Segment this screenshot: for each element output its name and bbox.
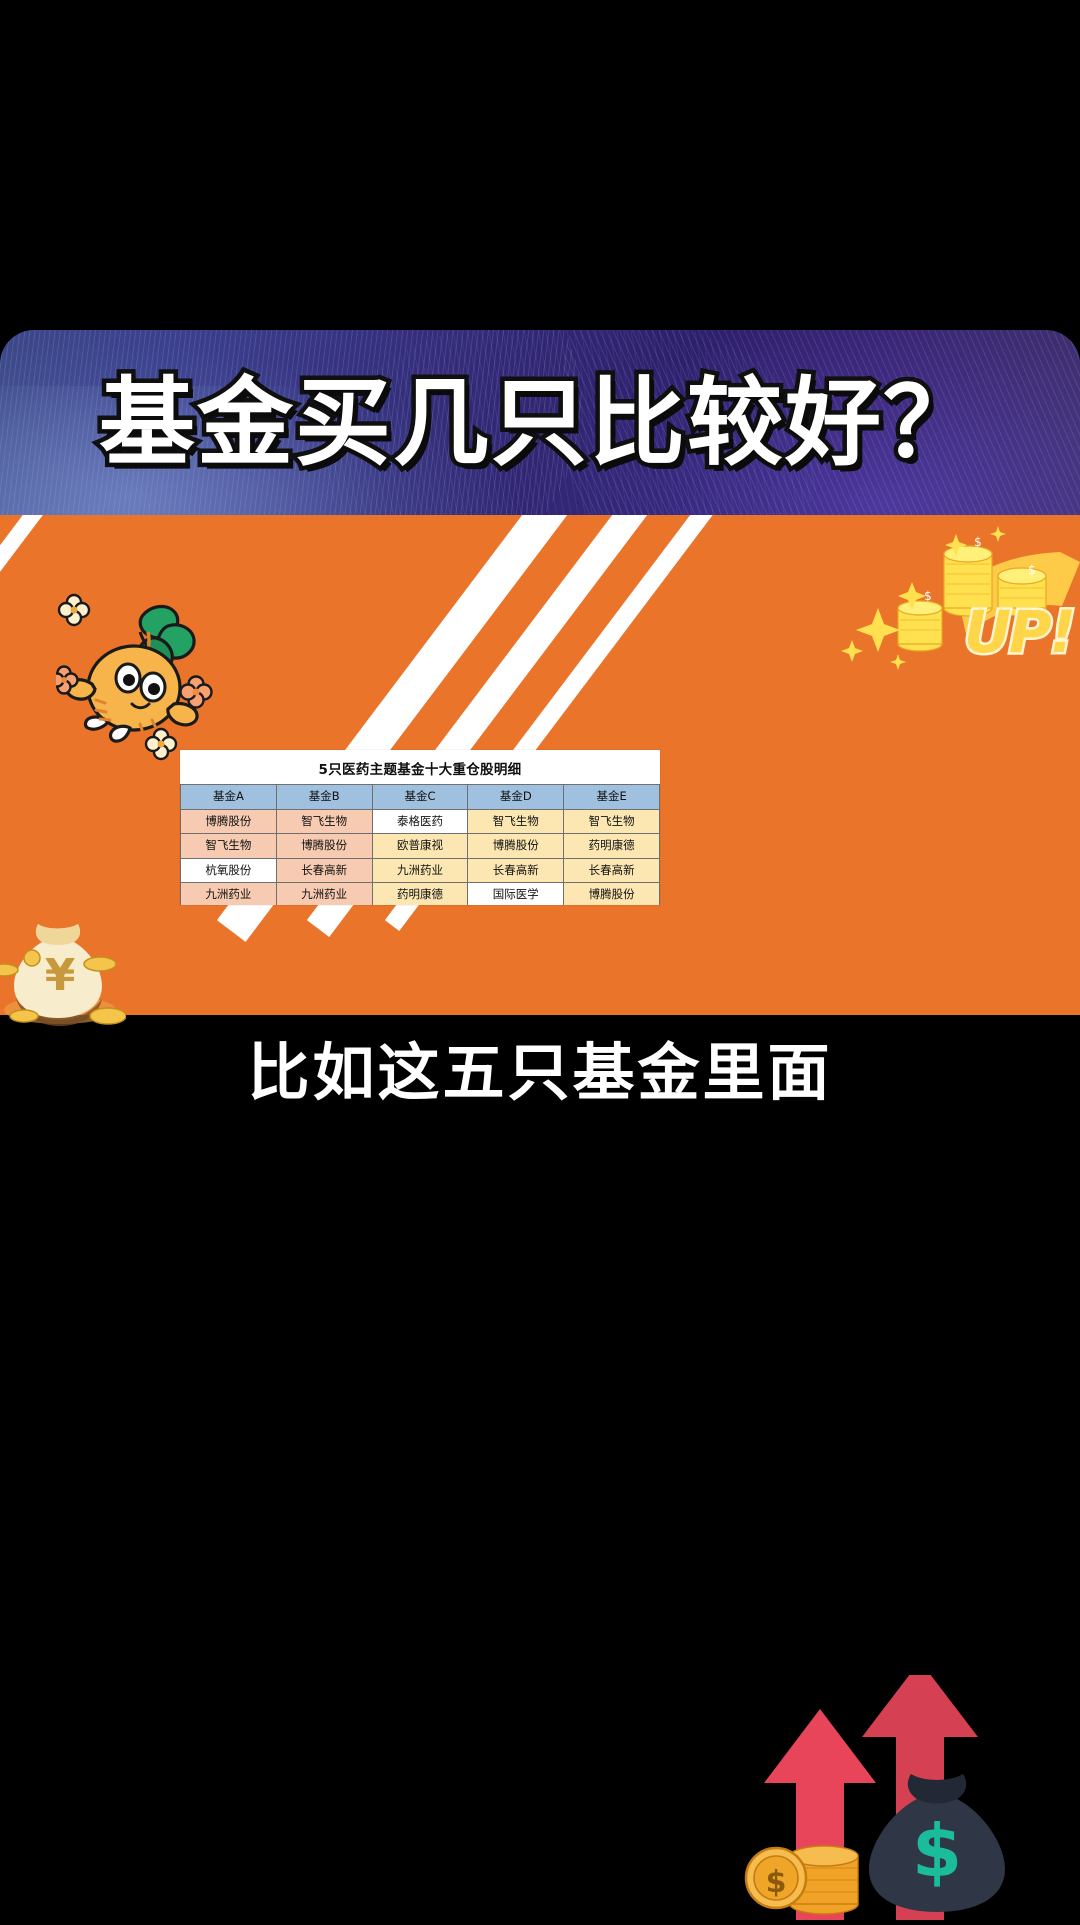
table-cell: 智飞生物: [468, 809, 564, 834]
table-cell: 九洲药业: [372, 858, 468, 883]
coin-stacks-up-icon: $ $ $ UP!: [760, 512, 1080, 672]
table-row: 博腾股份智飞生物泰格医药智飞生物智飞生物: [181, 809, 660, 834]
table-cell: 泰格医药: [372, 809, 468, 834]
table-cell: 博腾股份: [276, 834, 372, 859]
svg-text:$: $: [1028, 563, 1036, 577]
table-cell: 国际医学: [468, 883, 564, 905]
table-cell: 欧普康视: [372, 834, 468, 859]
column-header-fund-a: 基金A: [181, 785, 277, 810]
svg-text:$: $: [912, 1809, 962, 1893]
column-header-fund-d: 基金D: [468, 785, 564, 810]
fund-holdings-table-body: 博腾股份智飞生物泰格医药智飞生物智飞生物智飞生物博腾股份欧普康视博腾股份药明康德…: [181, 809, 660, 905]
svg-text:$: $: [766, 1865, 787, 1900]
table-row: 九洲药业九洲药业药明康德国际医学博腾股份: [181, 883, 660, 905]
up-label: UP!: [964, 598, 1074, 666]
table-cell: 九洲药业: [181, 883, 277, 905]
column-header-fund-c: 基金C: [372, 785, 468, 810]
title-banner: 基金买几只比较好？: [0, 330, 1080, 515]
money-bag-yuan-icon: ¥: [0, 898, 126, 1028]
column-header-fund-b: 基金B: [276, 785, 372, 810]
table-cell: 智飞生物: [564, 809, 660, 834]
gold-coin-stack-icon: $: [744, 1806, 884, 1916]
table-cell: 博腾股份: [181, 809, 277, 834]
table-cell: 长春高新: [564, 858, 660, 883]
table-header-row: 基金A 基金B 基金C 基金D 基金E: [181, 785, 660, 810]
table-cell: 智飞生物: [276, 809, 372, 834]
table-cell: 九洲药业: [276, 883, 372, 905]
svg-text:$: $: [974, 535, 982, 549]
table-cell: 长春高新: [276, 858, 372, 883]
table-title: 5只医药主题基金十大重仓股明细: [180, 750, 660, 784]
table-cell: 博腾股份: [564, 883, 660, 905]
table-row: 杭氧股份长春高新九洲药业长春高新长春高新: [181, 858, 660, 883]
svg-text:¥: ¥: [45, 950, 76, 1001]
page-title: 基金买几只比较好？: [0, 374, 1080, 474]
table-cell: 杭氧股份: [181, 858, 277, 883]
fund-holdings-table: 基金A 基金B 基金C 基金D 基金E 博腾股份智飞生物泰格医药智飞生物智飞生物…: [180, 784, 660, 905]
table-cell: 智飞生物: [181, 834, 277, 859]
table-cell: 药明康德: [372, 883, 468, 905]
carrot-mascot-icon: [56, 592, 226, 767]
table-row: 智飞生物博腾股份欧普康视博腾股份药明康德: [181, 834, 660, 859]
table-cell: 长春高新: [468, 858, 564, 883]
table-cell: 博腾股份: [468, 834, 564, 859]
table-cell: 药明康德: [564, 834, 660, 859]
column-header-fund-e: 基金E: [564, 785, 660, 810]
fund-holdings-card: 5只医药主题基金十大重仓股明细 基金A 基金B 基金C 基金D 基金E 博腾股份…: [180, 750, 660, 905]
subtitle-caption: 比如这五只基金里面: [0, 1022, 1080, 1112]
